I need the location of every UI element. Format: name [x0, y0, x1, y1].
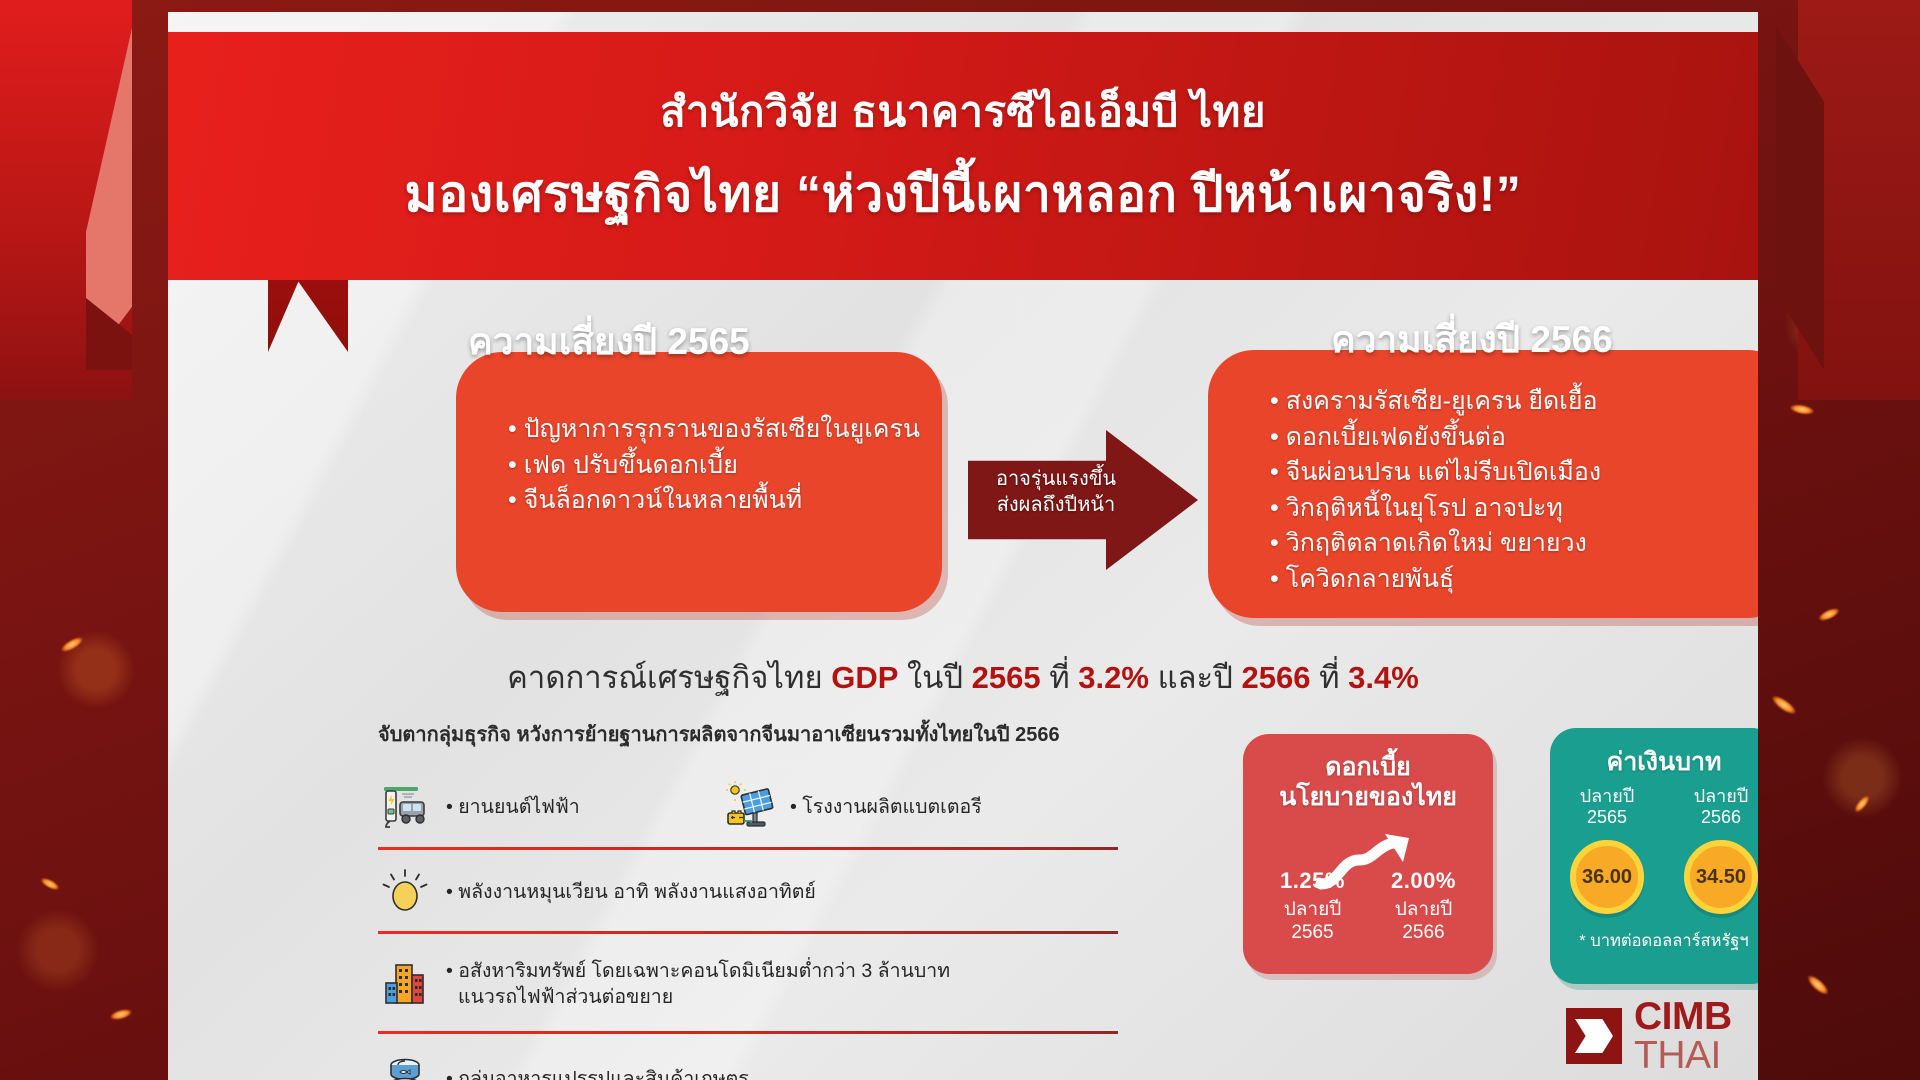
logo-wordmark: CIMB THAI — [1634, 997, 1758, 1075]
ember-particle — [1770, 693, 1799, 717]
gdp-label: GDP — [831, 660, 898, 695]
ember-particle — [109, 1007, 133, 1021]
business-label-text: พลังงานหมุนเวียน อาทิ พลังงานแสงอาทิตย์ — [458, 881, 816, 903]
business-label-text-line2: แนวรถไฟฟ้าส่วนต่อขยาย — [446, 984, 950, 1010]
policy-rate-pct: 2.00% — [1391, 868, 1456, 894]
ember-particle — [39, 876, 60, 892]
caption-line1: ปลายปี — [1391, 899, 1456, 922]
gdp-value-2565: 3.2% — [1078, 660, 1149, 695]
risk-2566-item: จีนผ่อนปรน แต่ไม่รีบเปิดเมือง — [1270, 455, 1601, 491]
business-item: • โรงงานผลิตแบตเตอรี — [722, 780, 982, 834]
canned-food-icon — [378, 1052, 432, 1080]
policy-rate-title: ดอกเบี้ย นโยบายของไทย — [1243, 734, 1493, 812]
caption-line1: ปลายปี — [1280, 899, 1345, 922]
risk-2566-title: ความเสี่ยงปี 2566 — [1331, 310, 1613, 369]
cimb-chevron-icon — [1566, 1008, 1622, 1064]
business-item-label: • โรงงานผลิตแบตเตอรี — [790, 794, 982, 820]
policy-rate-pct: 1.25% — [1280, 868, 1345, 894]
logo-wordmark-row: CIMB THAI — [1566, 997, 1758, 1075]
gdp-year-2566: 2566 — [1242, 660, 1311, 695]
baht-currency-card: ค่าเงินบาท ปลายปี 2565 ปลายปี 2566 36.00… — [1550, 728, 1758, 984]
solar-panel-battery-icon — [722, 780, 776, 834]
caption-line1: ปลายปี — [1580, 786, 1635, 807]
business-row: • ยานยนต์ไฟฟ้า — [378, 764, 1118, 850]
business-item-label: • ยานยนต์ไฟฟ้า — [446, 794, 580, 820]
risk-2566-item: ดอกเบี้ยเฟดยังขึ้นต่อ — [1270, 420, 1601, 456]
risk-2565-item: เฟด ปรับขึ้นดอกเบี้ย — [508, 448, 920, 484]
ev-charging-station-icon — [378, 780, 432, 834]
caption-line1: ปลายปี — [1694, 786, 1749, 807]
business-row: • พลังงานหมุนเวียน อาทิ พลังงานแสงอาทิตย… — [378, 850, 1118, 934]
risk-2566-item: สงครามรัสเซีย-ยูเครน ยืดเยื้อ — [1270, 384, 1601, 420]
risk-2565-item: ปัญหาการรุกรานของรัสเซียในยูเครน — [508, 412, 920, 448]
policy-rate-value: 1.25% ปลายปี 2565 — [1280, 868, 1345, 945]
business-item-label: • อสังหาริมทรัพย์ โดยเฉพาะคอนโดมิเนียมต่… — [446, 958, 950, 1011]
gdp-text-2: ในปี — [898, 660, 971, 695]
baht-card-title: ค่าเงินบาท — [1550, 728, 1758, 782]
business-section-heading: จับตากลุ่มธุรกิจ หวังการย้ายฐานการผลิตจา… — [378, 718, 1060, 750]
transition-arrow: อาจรุ่นแรงขึ้น ส่งผลถึงปีหน้า — [968, 430, 1198, 570]
risk-2565-item: จีนล็อกดาวน์ในหลายพื้นที่ — [508, 483, 920, 519]
arrow-label-line1: อาจรุ่นแรงขึ้น — [982, 466, 1130, 492]
policy-rate-value: 2.00% ปลายปี 2566 — [1391, 868, 1456, 945]
policy-rate-title-line1: ดอกเบี้ย — [1243, 752, 1493, 782]
ember-particle — [1789, 403, 1814, 416]
ember-particle — [59, 635, 84, 655]
risk-2566-list: สงครามรัสเซีย-ยูเครน ยืดเยื้อ ดอกเบี้ยเฟ… — [1270, 384, 1601, 597]
gdp-text-1: คาดการณ์เศรษฐกิจไทย — [507, 660, 831, 695]
business-row: • กลุ่มอาหารแปรรูปและสินค้าเกษตร — [378, 1034, 1118, 1080]
cimb-thai-logo: CIMB THAI ธนาคาร ซีไอเอ็มบี ไทย — [1566, 997, 1758, 1080]
policy-rate-card: ดอกเบี้ย นโยบายของไทย 1.25% ปลายปี 2565 … — [1243, 734, 1493, 974]
arrow-label-line2: ส่งผลถึงปีหน้า — [982, 492, 1130, 518]
header-banner: สำนักวิจัย ธนาคารซีไอเอ็มบี ไทย มองเศรษฐ… — [168, 32, 1758, 280]
business-label-text: กลุ่มอาหารแปรรูปและสินค้าเกษตร — [458, 1068, 749, 1080]
ember-particle — [1805, 973, 1831, 998]
policy-rate-caption: ปลายปี 2565 — [1280, 899, 1345, 945]
business-label-text: โรงงานผลิตแบตเตอรี — [802, 796, 981, 818]
baht-caption: ปลายปี 2565 — [1580, 786, 1635, 828]
caption-line2: 2565 — [1280, 922, 1345, 945]
sun-icon — [378, 865, 432, 919]
gdp-year-2565: 2565 — [972, 660, 1041, 695]
business-label-text: ยานยนต์ไฟฟ้า — [458, 796, 580, 818]
logo-word-thai: THAI — [1634, 1034, 1721, 1077]
risk-2566-item: วิกฤติตลาดเกิดใหม่ ขยายวง — [1270, 526, 1601, 562]
arrow-label: อาจรุ่นแรงขึ้น ส่งผลถึงปีหน้า — [982, 466, 1130, 519]
policy-rate-values: 1.25% ปลายปี 2565 2.00% ปลายปี 2566 — [1243, 868, 1493, 945]
infographic-page: สำนักวิจัย ธนาคารซีไอเอ็มบี ไทย มองเศรษฐ… — [0, 0, 1920, 1080]
business-item: • พลังงานหมุนเวียน อาทิ พลังงานแสงอาทิตย… — [378, 865, 816, 919]
ember-particle — [1817, 606, 1841, 623]
business-item: • อสังหาริมทรัพย์ โดยเฉพาะคอนโดมิเนียมต่… — [378, 957, 950, 1011]
coin-icon-2565: 36.00 — [1570, 840, 1644, 914]
gdp-value-2566: 3.4% — [1348, 660, 1419, 695]
caption-line2: 2565 — [1580, 807, 1635, 828]
business-list: • ยานยนต์ไฟฟ้า — [378, 764, 1118, 1080]
risk-2565-title: ความเสี่ยงปี 2565 — [468, 312, 750, 371]
baht-coins: 36.00 34.50 — [1550, 840, 1758, 914]
logo-word-cimb: CIMB — [1634, 995, 1732, 1038]
policy-rate-caption: ปลายปี 2566 — [1391, 899, 1456, 945]
business-label-text: อสังหาริมทรัพย์ โดยเฉพาะคอนโดมิเนียมต่ำก… — [458, 960, 950, 982]
ember-particle — [1853, 794, 1872, 814]
buildings-icon — [378, 957, 432, 1011]
baht-caption: ปลายปี 2566 — [1694, 786, 1749, 828]
content-card: สำนักวิจัย ธนาคารซีไอเอ็มบี ไทย มองเศรษฐ… — [168, 12, 1758, 1080]
baht-card-note: * บาทต่อดอลลาร์สหรัฐฯ — [1550, 928, 1758, 954]
policy-rate-title-line2: นโยบายของไทย — [1243, 782, 1493, 812]
risk-2566-item: วิกฤติหนี้ในยุโรป อาจปะทุ — [1270, 491, 1601, 527]
business-item-label: • กลุ่มอาหารแปรรูปและสินค้าเกษตร — [446, 1066, 749, 1080]
risk-2566-item: โควิดกลายพันธุ์ — [1270, 562, 1601, 598]
business-item: • กลุ่มอาหารแปรรูปและสินค้าเกษตร — [378, 1052, 749, 1080]
baht-card-captions: ปลายปี 2565 ปลายปี 2566 — [1550, 786, 1758, 828]
caption-line2: 2566 — [1391, 922, 1456, 945]
header-title: มองเศรษฐกิจไทย “ห่วงปีนี้เผาหลอก ปีหน้าเ… — [405, 155, 1522, 234]
gdp-forecast-line: คาดการณ์เศรษฐกิจไทย GDP ในปี 2565 ที่ 3.… — [168, 652, 1758, 702]
header-subtitle: สำนักวิจัย ธนาคารซีไอเอ็มบี ไทย — [660, 79, 1266, 145]
caption-line2: 2566 — [1694, 807, 1749, 828]
gdp-text-3: ที่ — [1041, 660, 1079, 695]
gdp-text-5: ที่ — [1310, 660, 1348, 695]
risk-2565-list: ปัญหาการรุกรานของรัสเซียในยูเครน เฟด ปรั… — [508, 412, 920, 519]
gdp-text-4: และปี — [1149, 660, 1242, 695]
business-item-label: • พลังงานหมุนเวียน อาทิ พลังงานแสงอาทิตย… — [446, 879, 816, 905]
business-row: • อสังหาริมทรัพย์ โดยเฉพาะคอนโดมิเนียมต่… — [378, 934, 1118, 1034]
coin-icon-2566: 34.50 — [1684, 840, 1758, 914]
business-item: • ยานยนต์ไฟฟ้า — [378, 780, 698, 834]
